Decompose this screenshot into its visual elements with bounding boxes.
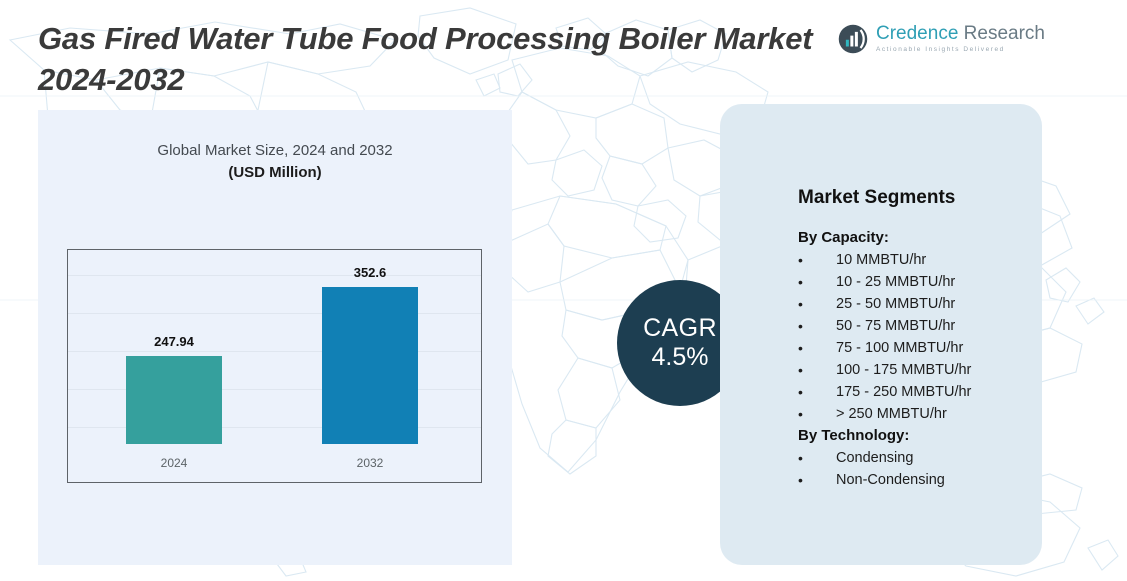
list-item: •Condensing	[798, 447, 1038, 469]
bar-2032	[322, 287, 418, 444]
list-item-label: 25 - 50 MMBTU/hr	[836, 293, 955, 315]
gridline	[68, 313, 481, 314]
group-heading-by-technology: By Technology:	[798, 425, 1038, 447]
infographic-root: Gas Fired Water Tube Food Processing Boi…	[0, 0, 1127, 581]
bullet-icon: •	[798, 469, 836, 491]
bullet-icon: •	[798, 249, 836, 271]
cagr-value: 4.5%	[652, 342, 709, 372]
list-item-label: 50 - 75 MMBTU/hr	[836, 315, 955, 337]
bar-2024	[126, 356, 222, 444]
list-item-label: Condensing	[836, 447, 913, 469]
segments-heading: Market Segments	[798, 187, 955, 209]
list-item-label: 100 - 175 MMBTU/hr	[836, 359, 971, 381]
list-item-label: 75 - 100 MMBTU/hr	[836, 337, 963, 359]
logo-name-second: Research	[958, 23, 1045, 44]
segments-list: By Capacity: •10 MMBTU/hr •10 - 25 MMBTU…	[798, 227, 1038, 491]
bullet-icon: •	[798, 337, 836, 359]
group-heading-by-capacity: By Capacity:	[798, 227, 1038, 249]
list-item: •100 - 175 MMBTU/hr	[798, 359, 1038, 381]
logo-text-block: Credence Research Actionable Insights De…	[876, 24, 1045, 54]
list-item: •75 - 100 MMBTU/hr	[798, 337, 1038, 359]
chart-panel: Global Market Size, 2024 and 2032 (USD M…	[38, 110, 512, 565]
list-item-label: 10 MMBTU/hr	[836, 249, 926, 271]
bullet-icon: •	[798, 271, 836, 293]
x-tick-2032: 2032	[320, 456, 420, 470]
list-item: •50 - 75 MMBTU/hr	[798, 315, 1038, 337]
list-item-label: > 250 MMBTU/hr	[836, 403, 947, 425]
list-item: •25 - 50 MMBTU/hr	[798, 293, 1038, 315]
bullet-icon: •	[798, 447, 836, 469]
bar-value-label-2024: 247.94	[124, 334, 224, 349]
bullet-icon: •	[798, 381, 836, 403]
list-item: •175 - 250 MMBTU/hr	[798, 381, 1038, 403]
market-segments-panel: Market Segments By Capacity: •10 MMBTU/h…	[720, 104, 1042, 565]
list-item: •10 - 25 MMBTU/hr	[798, 271, 1038, 293]
bar-chart-circle-icon	[838, 24, 868, 54]
bullet-icon: •	[798, 315, 836, 337]
gridline	[68, 351, 481, 352]
page-title: Gas Fired Water Tube Food Processing Boi…	[38, 18, 838, 100]
brand-logo: Credence Research Actionable Insights De…	[838, 24, 1045, 54]
x-tick-2024: 2024	[124, 456, 224, 470]
bar-value-label-2032: 352.6	[320, 265, 420, 280]
list-item-label: 10 - 25 MMBTU/hr	[836, 271, 955, 293]
list-item: •Non-Condensing	[798, 469, 1038, 491]
logo-tagline: Actionable Insights Delivered	[876, 45, 1045, 54]
list-item: •> 250 MMBTU/hr	[798, 403, 1038, 425]
bullet-icon: •	[798, 403, 836, 425]
chart-plot-area: 247.94 2024 352.6 2032	[67, 249, 482, 483]
chart-title: Global Market Size, 2024 and 2032	[38, 142, 512, 159]
chart-subtitle: (USD Million)	[38, 164, 512, 181]
list-item-label: 175 - 250 MMBTU/hr	[836, 381, 971, 403]
logo-name-first: Credence	[876, 23, 958, 44]
cagr-label: CAGR	[643, 314, 717, 342]
bullet-icon: •	[798, 359, 836, 381]
bullet-icon: •	[798, 293, 836, 315]
list-item: •10 MMBTU/hr	[798, 249, 1038, 271]
list-item-label: Non-Condensing	[836, 469, 945, 491]
logo-name: Credence Research	[876, 24, 1045, 44]
